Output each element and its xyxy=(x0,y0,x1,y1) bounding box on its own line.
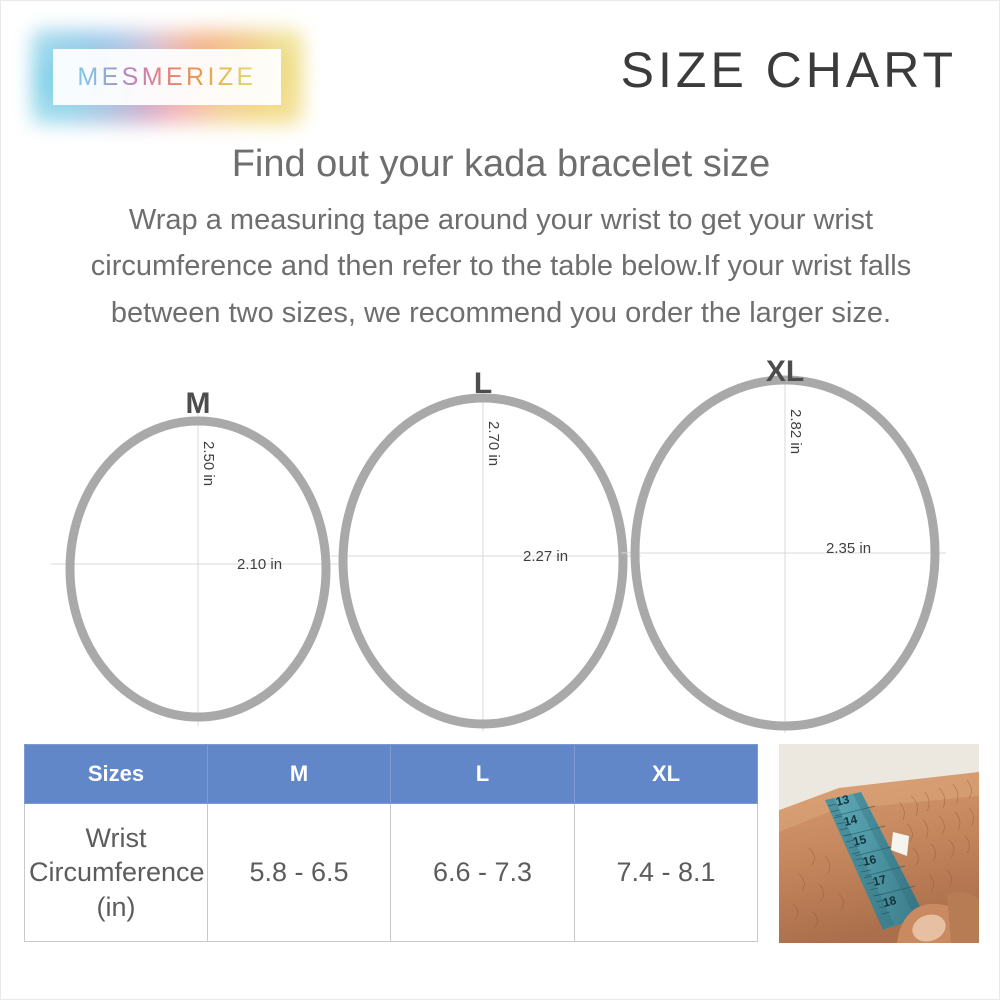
intro-heading: Find out your kada bracelet size xyxy=(1,141,1000,189)
row-label-line2: Circumference xyxy=(29,857,205,887)
brand-logo-text: MESMERIZE xyxy=(77,63,256,92)
bracelet-size-letter-m: M xyxy=(186,387,211,420)
logo-box: MESMERIZE xyxy=(53,49,281,105)
intro-body-text: Wrap a measuring tape around your wrist … xyxy=(46,197,956,338)
page-header: MESMERIZE SIZE CHART xyxy=(1,1,1000,136)
wrist-measurement-photo: 13 14 15 16 17 18 xyxy=(779,744,979,943)
table-header-row: Sizes M L XL xyxy=(25,745,758,804)
page-title: SIZE CHART xyxy=(621,45,957,95)
bracelet-diagram-m: M 2.50 in 2.10 in xyxy=(51,387,346,726)
bracelet-diagram-xl: XL 2.82 in 2.35 in xyxy=(621,355,946,733)
row-label-line1: Wrist xyxy=(86,823,147,853)
table-row: Wrist Circumference (in) 5.8 - 6.5 6.6 -… xyxy=(25,804,758,942)
bracelet-height-label-l: 2.70 in xyxy=(485,421,502,466)
bracelet-width-label-m: 2.10 in xyxy=(237,556,282,573)
bracelet-height-label-xl: 2.82 in xyxy=(787,409,804,454)
bracelet-width-label-xl: 2.35 in xyxy=(826,540,871,557)
bracelet-diagrams: M 2.50 in 2.10 in L 2.70 in 2.27 in XL 2… xyxy=(1,341,1000,741)
table-cell-row-label: Wrist Circumference (in) xyxy=(25,804,208,942)
brand-logo: MESMERIZE xyxy=(53,49,281,105)
bracelet-size-letter-l: L xyxy=(474,367,492,400)
bracelet-size-letter-xl: XL xyxy=(766,355,804,388)
table-cell-xl: 7.4 - 8.1 xyxy=(575,804,758,942)
bracelet-width-label-l: 2.27 in xyxy=(523,548,568,565)
row-label-line3: (in) xyxy=(97,892,136,922)
size-chart-page: MESMERIZE SIZE CHART Find out your kada … xyxy=(0,0,1000,1000)
bracelet-height-label-m: 2.50 in xyxy=(200,441,217,486)
table-header-l: L xyxy=(391,745,575,804)
intro-section: Find out your kada bracelet size Wrap a … xyxy=(1,141,1000,337)
table-header-sizes: Sizes xyxy=(25,745,208,804)
table-cell-m: 5.8 - 6.5 xyxy=(208,804,391,942)
table-cell-l: 6.6 - 7.3 xyxy=(391,804,575,942)
size-table: Sizes M L XL Wrist Circumference (in) 5.… xyxy=(24,744,758,942)
bracelet-diagram-l: L 2.70 in 2.27 in xyxy=(331,367,641,731)
table-header-xl: XL xyxy=(575,745,758,804)
finger-second xyxy=(947,892,979,943)
table-header-m: M xyxy=(208,745,391,804)
